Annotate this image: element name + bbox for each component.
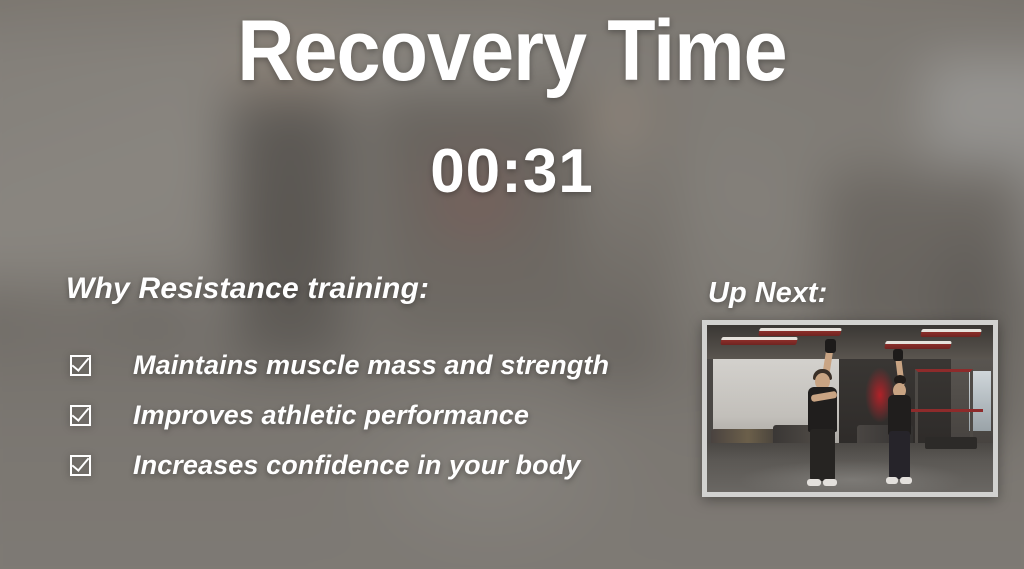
thumb-floor-gloss [737,460,967,492]
thumb-dumbbell-icon [825,339,836,353]
thumb-ceiling-light [720,337,798,345]
recovery-time-screen: Recovery Time 00:31 Why Resistance train… [0,0,1024,569]
checked-box-icon [70,455,91,476]
thumb-person-male-shoe [807,479,821,486]
thumb-person-female-shoe [900,477,912,484]
thumb-ceiling-light [758,328,842,336]
thumb-dumbbell-icon [893,349,903,361]
thumb-person-female-shoe [886,477,898,484]
thumb-person-female-legs [889,431,910,479]
thumb-ceiling-light [920,329,982,337]
up-next-label: Up Next: [708,277,827,310]
benefits-panel: Why Resistance training: Maintains muscl… [64,272,684,490]
list-item-label: Maintains muscle mass and strength [133,350,609,381]
thumb-person-female-torso [888,395,911,435]
list-item: Improves athletic performance [64,390,684,440]
thumb-ceiling-light [884,341,952,349]
thumb-rack-bar [907,409,983,412]
list-item-label: Improves athletic performance [133,400,529,431]
checked-box-icon [70,355,91,376]
thumbnail-scene [707,325,993,492]
list-item: Increases confidence in your body [64,440,684,490]
countdown-timer: 00:31 [0,141,1024,203]
thumb-person-male-shoe [823,479,837,486]
list-item-label: Increases confidence in your body [133,450,580,481]
thumb-bench [925,437,977,449]
section-heading: Why Resistance training: [66,272,684,306]
list-item: Maintains muscle mass and strength [64,340,684,390]
thumb-person-male-legs [810,429,835,481]
overlay-content: Recovery Time 00:31 Why Resistance train… [0,0,1024,569]
up-next-video-thumbnail[interactable] [702,320,998,497]
checked-box-icon [70,405,91,426]
page-title: Recovery Time [41,8,983,94]
